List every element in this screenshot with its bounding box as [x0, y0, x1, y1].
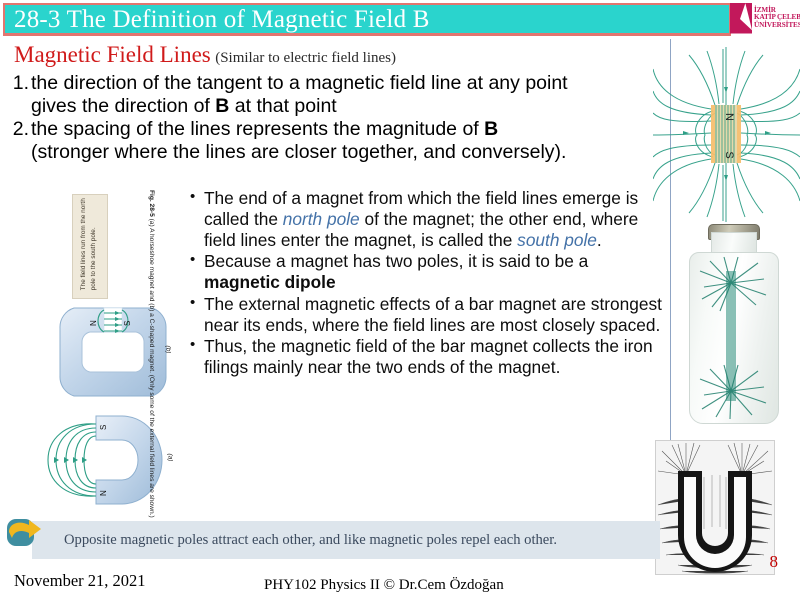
bullet-text-part: Because a magnet has two poles, it is sa…: [204, 251, 588, 271]
iron-filings-jar-photo: [681, 222, 793, 427]
item-line-2-a: gives the direction of: [31, 95, 215, 117]
jar-body: [689, 252, 779, 424]
logo-line-3: ÜNİVERSİTESİ: [754, 22, 800, 29]
bullet-item: • Thus, the magnetic field of the bar ma…: [190, 336, 668, 378]
section-heading-main: Magnetic Field Lines: [14, 42, 211, 67]
slide: 28-3 The Definition of Magnetic Field B …: [0, 0, 800, 600]
bullet-text: The external magnetic effects of a bar m…: [204, 294, 668, 336]
bullet-text: The end of a magnet from which the field…: [204, 188, 668, 250]
numbered-list: 1. the direction of the tangent to a mag…: [12, 72, 672, 164]
filings-cluster-svg: [690, 253, 778, 423]
figure-caption: Fig. 28-5 (a) A horseshoe magnet and (b)…: [132, 190, 156, 520]
key-idea-text: Opposite magnetic poles attract each oth…: [32, 532, 557, 549]
right-arrow-icon-svg: [5, 516, 43, 550]
bullet-marker-icon: •: [190, 251, 204, 270]
item-line-2-c: at that point: [229, 95, 336, 117]
footer-course-info: PHY102 Physics II © Dr.Cem Özdoğan: [264, 577, 504, 594]
figure-sublabel-b: (b): [164, 346, 171, 354]
item-number: 1.: [12, 72, 29, 95]
bar-magnet-pole-north: N: [723, 113, 735, 121]
item-number: 2.: [12, 118, 29, 141]
bullet-text: Because a magnet has two poles, it is sa…: [204, 251, 668, 293]
pole-label-north: N: [89, 320, 98, 326]
item-line-1: the spacing of the lines represents the …: [31, 118, 566, 141]
bullet-item: • Because a magnet has two poles, it is …: [190, 251, 668, 293]
item-line-2: gives the direction of B at that point: [31, 95, 568, 118]
item-line-1-a: the spacing of the lines represents the …: [31, 118, 484, 140]
bullet-item: • The end of a magnet from which the fie…: [190, 188, 668, 250]
slide-footer: November 21, 2021 PHY102 Physics II © Dr…: [0, 567, 800, 600]
right-arrow-icon: [5, 516, 43, 550]
filings-photo-frame: [655, 440, 775, 575]
pole-label-south: S: [123, 321, 132, 326]
bullet-term-north-pole: north pole: [283, 209, 360, 229]
bullet-list: • The end of a magnet from which the fie…: [190, 188, 668, 379]
page-title: 28-3 The Definition of Magnetic Field B: [5, 7, 430, 32]
bullet-marker-icon: •: [190, 294, 204, 313]
university-logo: İZMİR KATİP ÇELEBİ ÜNİVERSİTESİ: [730, 1, 798, 35]
bar-magnet-pole-south: S: [723, 151, 735, 158]
figure-callout-text: The field lines run from the north pole …: [79, 188, 100, 290]
footer-date: November 21, 2021: [14, 571, 146, 591]
item-line-1-symbol: B: [484, 118, 498, 140]
numbered-item: 2. the spacing of the lines represents t…: [12, 118, 672, 164]
bullet-text-part: .: [597, 230, 602, 250]
section-heading-sub: (Similar to electric field lines): [215, 50, 396, 66]
pole-label-north: N: [99, 490, 108, 496]
bullet-text: Thus, the magnetic field of the bar magn…: [204, 336, 668, 378]
section-heading: Magnetic Field Lines (Similar to electri…: [14, 42, 396, 68]
bullet-item: • The external magnetic effects of a bar…: [190, 294, 668, 336]
textbook-figure: The field lines run from the north pole …: [60, 190, 190, 520]
item-line-2-symbol: B: [215, 95, 229, 117]
key-idea-banner: Opposite magnetic poles attract each oth…: [32, 521, 660, 559]
item-line-2: (stronger where the lines are closer tog…: [31, 141, 566, 164]
pole-label-south: S: [99, 425, 108, 430]
bullet-marker-icon: •: [190, 336, 204, 355]
bar-magnet-field-diagram: N S: [653, 47, 800, 222]
numbered-item: 1. the direction of the tangent to a mag…: [12, 72, 672, 118]
filings-photo-svg: [656, 441, 774, 574]
figure-callout-box: The field lines run from the north pole …: [72, 194, 108, 299]
figure-caption-label: Fig. 28-5: [148, 190, 155, 217]
logo-mark-icon: [730, 3, 752, 34]
slide-header: 28-3 The Definition of Magnetic Field B: [3, 3, 731, 36]
figure-caption-text: (a) A horseshoe magnet and (b) a C-shape…: [148, 219, 155, 518]
item-line-1: the direction of the tangent to a magnet…: [31, 72, 568, 95]
figure-sublabel-a: (a): [166, 454, 173, 462]
logo-text: İZMİR KATİP ÇELEBİ ÜNİVERSİTESİ: [754, 7, 800, 29]
bar-magnet-field-svg: N S: [653, 47, 800, 222]
bullet-term-magnetic-dipole: magnetic dipole: [204, 272, 336, 292]
horseshoe-filings-photo: 8: [655, 440, 783, 580]
item-text: the spacing of the lines represents the …: [29, 118, 566, 164]
item-text: the direction of the tangent to a magnet…: [29, 72, 568, 118]
bullet-marker-icon: •: [190, 188, 204, 207]
bullet-term-south-pole: south pole: [517, 230, 597, 250]
